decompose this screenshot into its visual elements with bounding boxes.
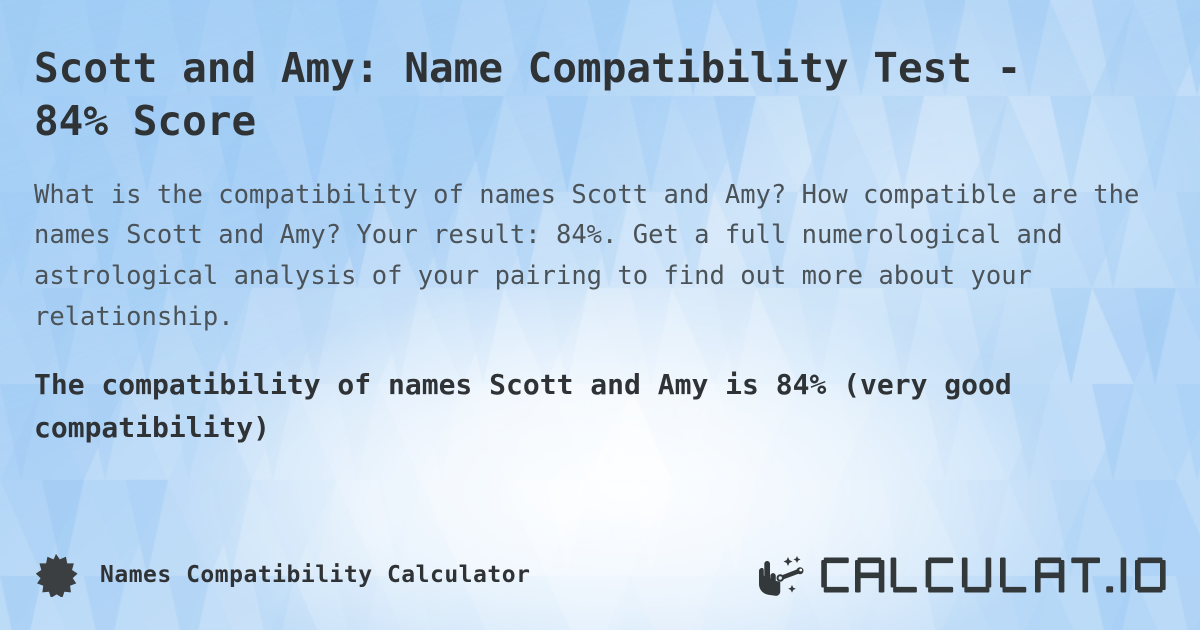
logo-wordmark [820, 555, 1170, 595]
footer: Names Compatibility Calculator [34, 546, 1178, 604]
description-text: What is the compatibility of names Scott… [34, 175, 1166, 338]
page-content: Scott and Amy: Name Compatibility Test -… [0, 0, 1200, 630]
compatibility-verdict: The compatibility of names Scott and Amy… [34, 364, 1166, 450]
site-logo[interactable] [757, 553, 1178, 597]
footer-brand: Names Compatibility Calculator [34, 553, 530, 597]
hand-magic-wand-icon [757, 553, 811, 597]
page-title: Scott and Amy: Name Compatibility Test -… [34, 42, 1044, 149]
starburst-icon [34, 553, 78, 597]
footer-brand-label: Names Compatibility Calculator [100, 562, 530, 588]
